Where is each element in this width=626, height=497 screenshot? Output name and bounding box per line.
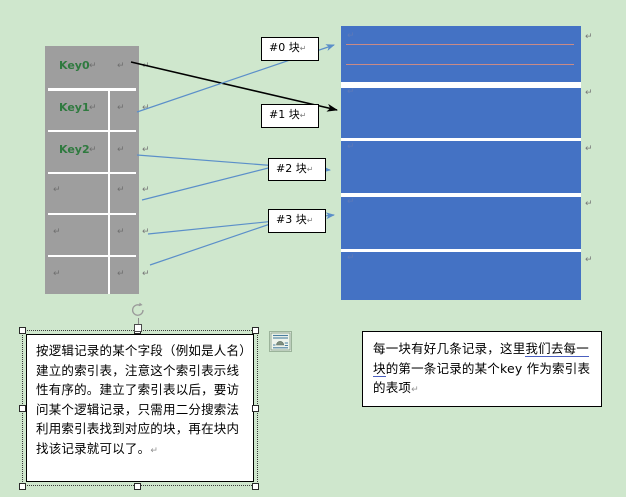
block-label-3-pilcrow: ↵: [307, 216, 314, 225]
resize-handle-s[interactable]: [134, 483, 141, 490]
note-right-seg4: 的第一条记录的某个key 作为索引表的表项: [373, 361, 590, 396]
block-label-1-text: #1 块: [269, 108, 300, 121]
index-cell-3-pilcrow: ↵: [117, 186, 125, 195]
index-key-5-pilcrow: ↵: [53, 270, 61, 279]
block-label-3-text: #3 块: [276, 213, 307, 226]
block-label-2[interactable]: #2 块↵: [268, 158, 326, 181]
index-key-2-pilcrow: ↵: [89, 146, 97, 155]
resize-handle-nw[interactable]: [19, 327, 26, 334]
index-cell-2-pilcrow: ↵: [117, 146, 125, 155]
index-row-separator: [48, 213, 136, 215]
index-outside-pilcrow-0: ↵: [142, 62, 150, 71]
block-outside-pilcrow-2: ↵: [585, 145, 593, 154]
block-label-0-text: #0 块: [269, 41, 300, 54]
block-1-pilcrow: ↵: [347, 88, 355, 97]
resize-handle-e[interactable]: [252, 405, 259, 412]
block-2-pilcrow: ↵: [347, 143, 355, 152]
index-outside-pilcrow-5: ↵: [142, 270, 150, 279]
index-key-1: Key1: [59, 101, 90, 114]
block-separator: [341, 82, 581, 88]
resize-handle-se[interactable]: [252, 483, 259, 490]
data-block-table[interactable]: ↵ ↵ ↵ ↵ ↵: [341, 26, 581, 300]
index-outside-pilcrow-3: ↵: [142, 186, 150, 195]
block-3-pilcrow: ↵: [347, 198, 355, 207]
index-row-separator: [48, 88, 136, 91]
block-label-1-pilcrow: ↵: [300, 111, 307, 120]
block-outside-pilcrow-3: ↵: [585, 200, 593, 209]
index-key-0-pilcrow: ↵: [89, 62, 97, 71]
rotate-icon[interactable]: [130, 302, 146, 318]
block-outside-pilcrow-0: ↵: [585, 33, 593, 42]
block-separator: [341, 193, 581, 197]
record-line: [346, 64, 574, 65]
index-table-vertical-divider: [108, 90, 110, 294]
note-right-end-pilcrow: ↵: [411, 385, 419, 395]
index-cell-5-pilcrow: ↵: [117, 270, 125, 279]
index-cell-0-pilcrow: ↵: [117, 62, 125, 71]
block-4-pilcrow: ↵: [347, 254, 355, 263]
document-canvas: Key0 ↵ ↵ Key1 ↵ ↵ Key2 ↵ ↵ ↵ ↵ ↵ ↵ ↵ ↵ ↵…: [0, 0, 626, 497]
object-anchor-icon[interactable]: [269, 331, 292, 352]
block-label-1[interactable]: #1 块↵: [261, 104, 319, 128]
block-label-2-text: #2 块: [276, 162, 307, 175]
index-cell-1-pilcrow: ↵: [117, 104, 125, 113]
resize-handle-w[interactable]: [19, 405, 26, 412]
index-table[interactable]: Key0 ↵ ↵ Key1 ↵ ↵ Key2 ↵ ↵ ↵ ↵ ↵ ↵ ↵ ↵: [45, 46, 139, 294]
block-label-0-pilcrow: ↵: [300, 44, 307, 53]
note-left-selection-frame[interactable]: [22, 330, 258, 486]
note-right-seg1: 每一块有好几条记录，这里: [373, 341, 525, 356]
index-row-separator: [48, 255, 136, 257]
record-line: [346, 44, 574, 45]
index-key-2: Key2: [59, 143, 90, 156]
block-outside-pilcrow-1: ↵: [585, 89, 593, 98]
index-key-1-pilcrow: ↵: [89, 104, 97, 113]
block-outside-pilcrow-4: ↵: [585, 256, 593, 265]
index-row-separator: [48, 172, 136, 174]
block-explanation-note[interactable]: 每一块有好几条记录，这里我们去每一块的第一条记录的某个key 作为索引表的表项↵: [362, 331, 602, 407]
block-label-2-pilcrow: ↵: [307, 165, 314, 174]
index-row-separator: [48, 130, 136, 132]
index-outside-pilcrow-4: ↵: [142, 228, 150, 237]
block-label-0[interactable]: #0 块↵: [261, 37, 319, 61]
index-key-0: Key0: [59, 59, 90, 72]
block-separator: [341, 249, 581, 252]
arrow-row5-to-block3-label: [150, 222, 276, 265]
index-key-4-pilcrow: ↵: [53, 228, 61, 237]
block-0-pilcrow: ↵: [347, 32, 355, 41]
block-explanation-note-body: 每一块有好几条记录，这里我们去每一块的第一条记录的某个key 作为索引表的表项↵: [373, 339, 593, 401]
index-cell-4-pilcrow: ↵: [117, 228, 125, 237]
resize-handle-ne[interactable]: [252, 327, 259, 334]
block-separator: [341, 138, 581, 141]
arrow-key0-to-block1: [131, 62, 337, 110]
index-outside-pilcrow-1: ↵: [142, 104, 150, 113]
index-key-3-pilcrow: ↵: [53, 186, 61, 195]
block-label-3[interactable]: #3 块↵: [268, 209, 326, 233]
note-right-seg2: 我们: [525, 341, 550, 357]
resize-handle-sw[interactable]: [19, 483, 26, 490]
rotate-handle-knob[interactable]: [134, 324, 142, 332]
index-outside-pilcrow-2: ↵: [142, 146, 150, 155]
